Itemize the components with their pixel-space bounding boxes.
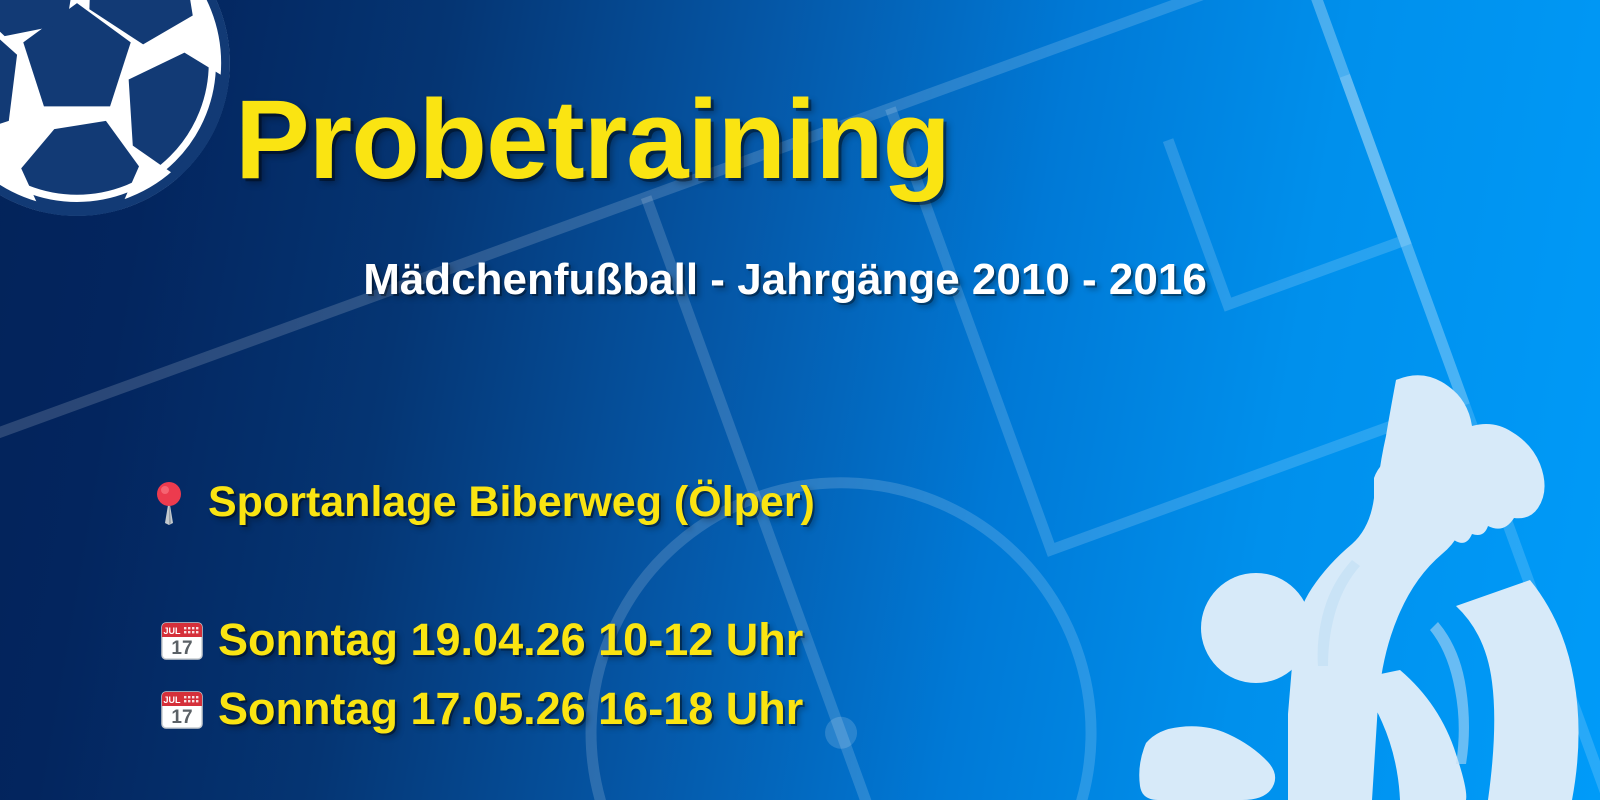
poster-canvas: Probetraining Mädchenfußball - Jahrgänge… xyxy=(0,0,1600,800)
venue-text: Sportanlage Biberweg (Ölper) xyxy=(208,478,815,527)
date-text-2: Sonntag 17.05.26 16-18 Uhr xyxy=(218,683,803,735)
date-line-1: JUL 17 Sonntag 19.04.26 10-12 Uhr xyxy=(160,614,803,666)
svg-text:JUL: JUL xyxy=(163,626,181,636)
calendar-icon: JUL 17 xyxy=(160,618,218,662)
page-subtitle: Mädchenfußball - Jahrgänge 2010 - 2016 xyxy=(0,256,1570,304)
page-title: Probetraining xyxy=(0,84,1185,196)
svg-text:17: 17 xyxy=(171,638,192,659)
date-line-2: JUL 17 Sonntag 17.05.26 16-18 Uhr xyxy=(160,683,803,735)
venue-line: Sportanlage Biberweg (Ölper) xyxy=(154,478,815,527)
date-text-1: Sonntag 19.04.26 10-12 Uhr xyxy=(218,614,803,666)
svg-text:JUL: JUL xyxy=(163,695,181,705)
female-player-silhouette-graphic xyxy=(1138,370,1600,800)
calendar-icon: JUL 17 xyxy=(160,687,218,731)
svg-text:17: 17 xyxy=(171,707,192,728)
round-pushpin-icon xyxy=(154,481,208,525)
